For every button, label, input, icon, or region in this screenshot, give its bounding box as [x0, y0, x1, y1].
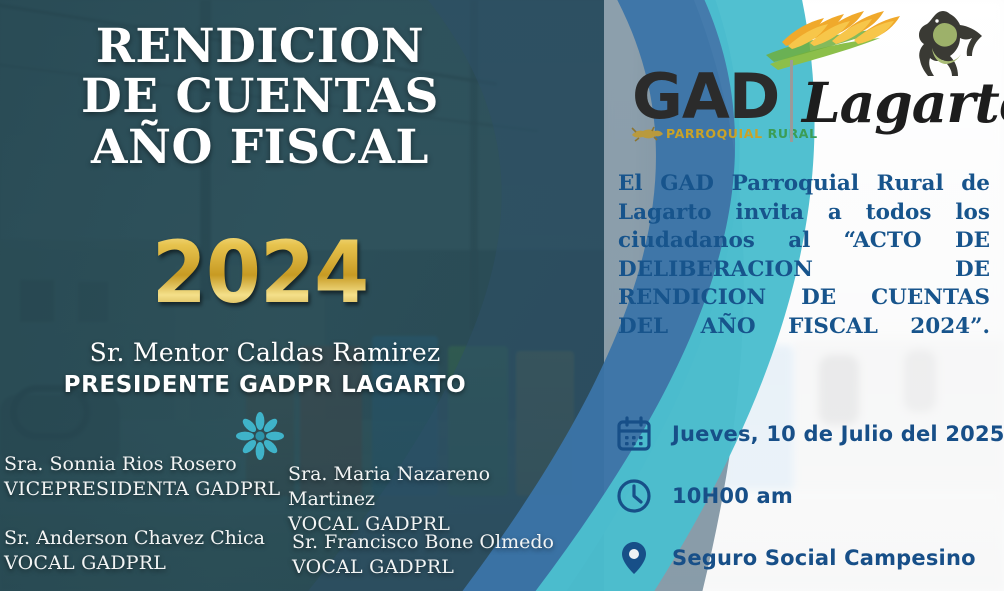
- detail-date: Jueves, 10 de Julio del 2025: [614, 414, 1004, 454]
- list-item: Sra. Sonnia Rios Rosero VICEPRESIDENTA G…: [4, 452, 280, 502]
- detail-time-text: 10H00 am: [672, 484, 793, 508]
- member-role: VOCAL GADPRL: [4, 551, 265, 576]
- logo-acronym: GAD: [632, 66, 779, 128]
- detail-location-text: Seguro Social Campesino: [672, 546, 976, 570]
- member-role: VICEPRESIDENTA GADPRL: [4, 477, 280, 502]
- president-role: PRESIDENTE GADPR LAGARTO: [0, 372, 530, 398]
- title-line-3: AÑO FISCAL: [0, 123, 520, 173]
- list-item: Sra. Maria Nazareno Martinez VOCAL GADPR…: [288, 462, 560, 537]
- location-pin-icon: [614, 538, 654, 578]
- title-line-2: DE CUENTAS: [0, 72, 520, 122]
- member-name: Sr. Francisco Bone Olmedo: [292, 530, 554, 555]
- wheat-icon: [766, 11, 900, 70]
- horse-icon: [919, 11, 982, 76]
- detail-time: 10H00 am: [614, 476, 793, 516]
- title-line-1: RENDICION: [0, 22, 520, 72]
- gad-lagarto-logo: GAD PARROQUIAL RURAL Lagarto: [624, 8, 992, 153]
- fiscal-year: 2024: [21, 223, 499, 323]
- detail-location: Seguro Social Campesino: [614, 538, 976, 578]
- event-poster: RENDICION DE CUENTAS AÑO FISCAL 2024 Sr.…: [0, 0, 1004, 591]
- right-content: GAD PARROQUIAL RURAL Lagarto El GAD Parr…: [604, 0, 1004, 591]
- lizard-icon: [630, 126, 664, 142]
- logo-subtitle-word-1: PARROQUIAL: [666, 126, 763, 141]
- list-item: Sr. Anderson Chavez Chica VOCAL GADPRL: [4, 526, 265, 576]
- invitation-text: El GAD Parroquial Rural de Lagarto invit…: [618, 170, 990, 370]
- logo-script-name: Lagarto: [802, 70, 1004, 135]
- member-name: Sra. Sonnia Rios Rosero: [4, 452, 280, 477]
- member-name: Sra. Maria Nazareno Martinez: [288, 462, 560, 512]
- member-name: Sr. Anderson Chavez Chica: [4, 526, 265, 551]
- logo-separator: [790, 60, 793, 142]
- calendar-icon: [614, 414, 654, 454]
- detail-date-text: Jueves, 10 de Julio del 2025: [672, 422, 1004, 446]
- list-item: Sr. Francisco Bone Olmedo VOCAL GADPRL: [292, 530, 554, 580]
- president-name: Sr. Mentor Caldas Ramirez: [0, 338, 530, 367]
- member-role: VOCAL GADPRL: [292, 555, 554, 580]
- clock-icon: [614, 476, 654, 516]
- left-content: RENDICION DE CUENTAS AÑO FISCAL 2024 Sr.…: [0, 0, 560, 591]
- page-title: RENDICION DE CUENTAS AÑO FISCAL: [0, 22, 520, 173]
- logo-subtitle: PARROQUIAL RURAL: [666, 126, 818, 141]
